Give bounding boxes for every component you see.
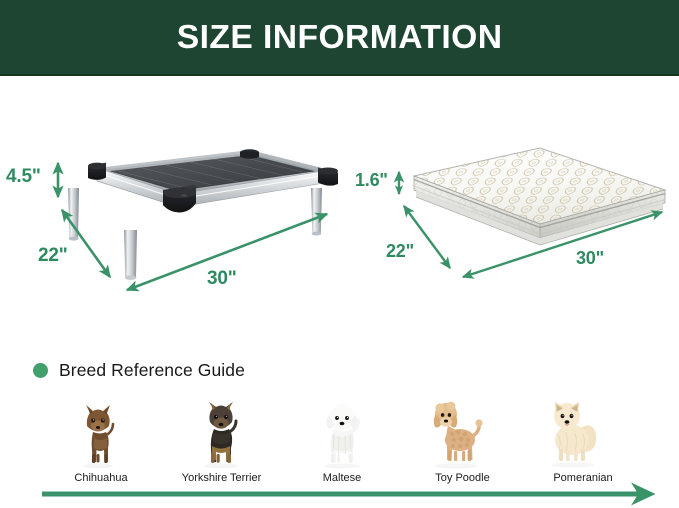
breed-label: Chihuahua bbox=[74, 472, 127, 484]
header-banner: SIZE INFORMATION bbox=[0, 0, 679, 74]
breed-item-chihuahua: Chihuahua bbox=[42, 398, 160, 484]
breed-item-toy-poodle: Toy Poodle bbox=[404, 398, 522, 484]
breed-image-pomeranian bbox=[524, 405, 642, 467]
cot-height-label: 4.5" bbox=[6, 166, 41, 188]
mattress-width-label: 30" bbox=[576, 248, 604, 269]
mattress-depth-label: 22" bbox=[386, 241, 414, 262]
breed-label: Toy Poodle bbox=[435, 472, 489, 484]
product-diagram-cot bbox=[0, 76, 345, 338]
breed-label: Yorkshire Terrier bbox=[182, 472, 261, 484]
breed-image-maltese bbox=[283, 405, 401, 467]
breed-item-pomeranian: Pomeranian bbox=[524, 398, 642, 484]
bullet-dot-icon bbox=[33, 363, 48, 378]
breed-image-chihuahua bbox=[42, 405, 160, 467]
product-diagrams bbox=[0, 76, 679, 338]
breed-list: Chihuahua Yorkshire Terrier Maltese Toy … bbox=[42, 398, 642, 484]
breed-image-yorkshire-terrier bbox=[163, 405, 281, 467]
cot-depth-label: 22" bbox=[38, 245, 68, 267]
breed-item-maltese: Maltese bbox=[283, 398, 401, 484]
breed-label: Pomeranian bbox=[553, 472, 612, 484]
page-title: SIZE INFORMATION bbox=[177, 18, 503, 56]
breed-reference-heading: Breed Reference Guide bbox=[33, 360, 245, 381]
product-diagram-mattress bbox=[345, 76, 679, 338]
breed-image-toy-poodle bbox=[404, 405, 522, 467]
breed-item-yorkshire-terrier: Yorkshire Terrier bbox=[163, 398, 281, 484]
cot-width-label: 30" bbox=[207, 268, 237, 290]
mattress-height-label: 1.6" bbox=[355, 170, 388, 191]
breed-reference-heading-text: Breed Reference Guide bbox=[59, 360, 245, 381]
breed-label: Maltese bbox=[323, 472, 362, 484]
